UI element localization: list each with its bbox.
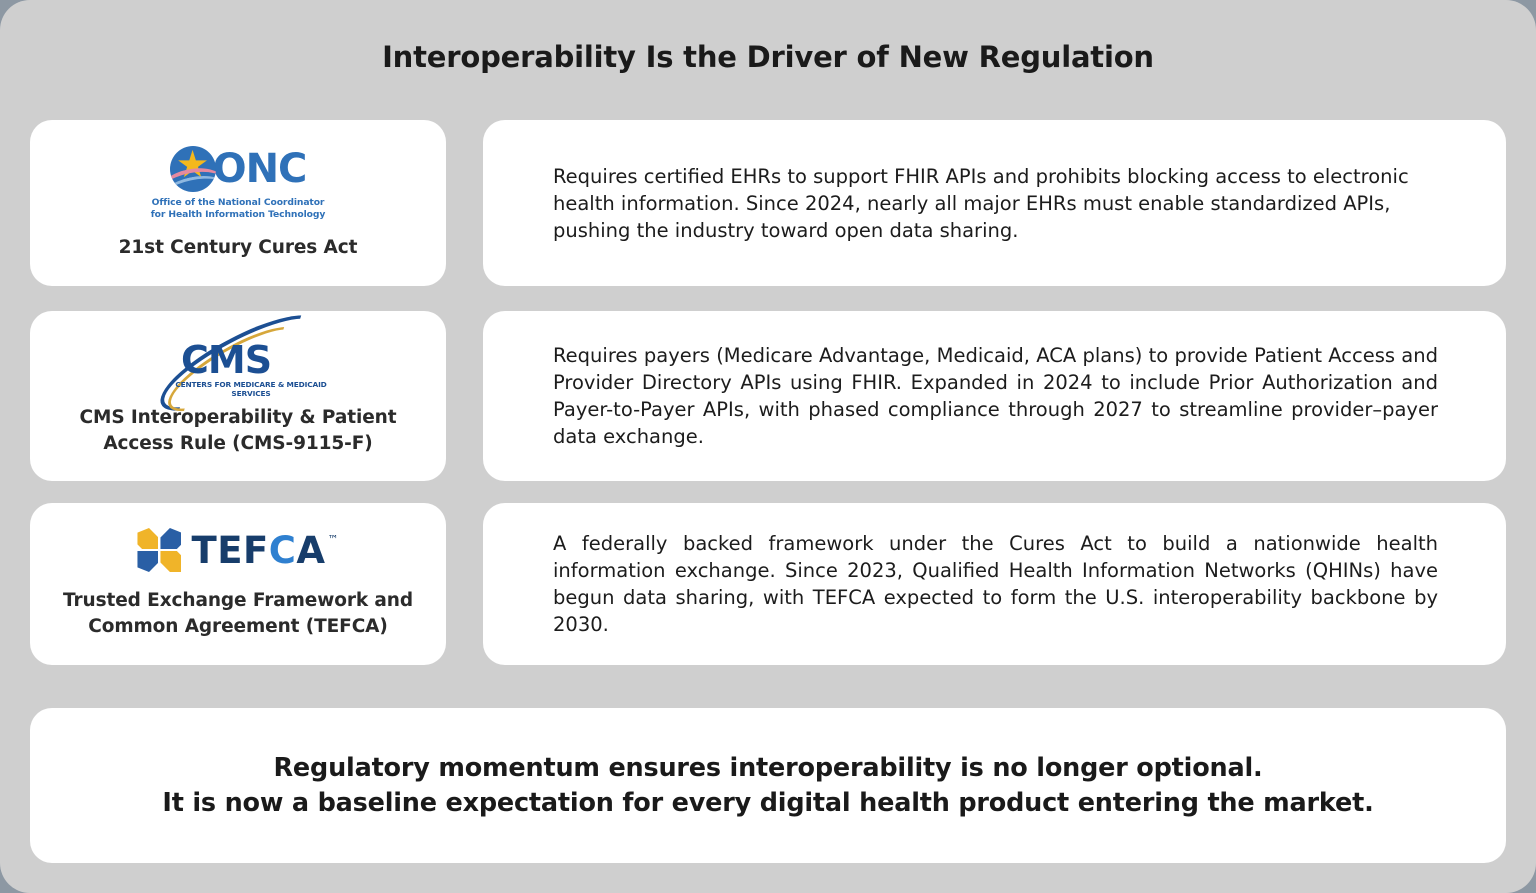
summary-banner: Regulatory momentum ensures interoperabi…: [30, 708, 1506, 863]
summary-line-2: It is now a baseline expectation for eve…: [162, 786, 1373, 821]
tefca-petal-bottom-right: [160, 551, 181, 572]
tefca-trademark-icon: ™: [328, 533, 339, 546]
cms-wordmark: CMS: [181, 341, 271, 379]
onc-subtitle-line2: for Health Information Technology: [151, 209, 325, 221]
regulation-label-cures-act: 21st Century Cures Act: [119, 235, 358, 261]
regulation-row-cures-act: ONC Office of the National Coordinator f…: [30, 120, 1506, 286]
description-card-cms: Requires payers (Medicare Advantage, Med…: [483, 311, 1506, 481]
tefca-wordmark-wrap: TEFCA ™: [191, 532, 338, 569]
tefca-prefix: TEF: [191, 529, 268, 572]
regulation-row-tefca: TEFCA ™ Trusted Exchange Framework and C…: [30, 503, 1506, 665]
tefca-wordmark: TEFCA: [191, 532, 325, 569]
logo-card-cms: CMS CENTERS FOR MEDICARE & MEDICAID SERV…: [30, 311, 446, 481]
description-text-cures-act: Requires certified EHRs to support FHIR …: [553, 163, 1438, 244]
slide-canvas: Interoperability Is the Driver of New Re…: [0, 0, 1536, 893]
regulation-row-cms: CMS CENTERS FOR MEDICARE & MEDICAID SERV…: [30, 311, 1506, 481]
onc-logo-mark-row: ONC: [170, 146, 307, 192]
onc-logo: ONC Office of the National Coordinator f…: [151, 146, 325, 221]
logo-card-onc: ONC Office of the National Coordinator f…: [30, 120, 446, 286]
tefca-petal-top-right: [160, 528, 181, 549]
summary-line-1: Regulatory momentum ensures interoperabi…: [273, 751, 1262, 786]
regulation-label-cms: CMS Interoperability & Patient Access Ru…: [44, 405, 432, 457]
cms-logo: CMS CENTERS FOR MEDICARE & MEDICAID SERV…: [143, 335, 333, 391]
tefca-logo: TEFCA ™: [137, 528, 338, 572]
onc-subtitle: Office of the National Coordinator for H…: [151, 197, 325, 221]
tefca-highlight-letter: C: [269, 529, 297, 572]
description-text-cms: Requires payers (Medicare Advantage, Med…: [553, 342, 1438, 450]
logo-card-tefca: TEFCA ™ Trusted Exchange Framework and C…: [30, 503, 446, 665]
description-text-tefca: A federally backed framework under the C…: [553, 530, 1438, 638]
tefca-petal-top-left: [137, 528, 158, 549]
cms-subtitle: CENTERS FOR MEDICARE & MEDICAID SERVICES: [171, 380, 331, 398]
tefca-petal-bottom-left: [137, 551, 158, 572]
regulation-label-tefca: Trusted Exchange Framework and Common Ag…: [44, 588, 432, 640]
tefca-pinwheel-icon: [137, 528, 181, 572]
onc-subtitle-line1: Office of the National Coordinator: [151, 197, 325, 209]
onc-circle-star-icon: [170, 146, 216, 192]
cms-logo-mark: CMS CENTERS FOR MEDICARE & MEDICAID SERV…: [143, 335, 333, 391]
description-card-tefca: A federally backed framework under the C…: [483, 503, 1506, 665]
page-title: Interoperability Is the Driver of New Re…: [0, 40, 1536, 74]
tefca-suffix: A: [296, 529, 325, 572]
onc-blue-circle: [170, 146, 216, 192]
description-card-cures-act: Requires certified EHRs to support FHIR …: [483, 120, 1506, 286]
onc-wordmark: ONC: [213, 149, 307, 189]
